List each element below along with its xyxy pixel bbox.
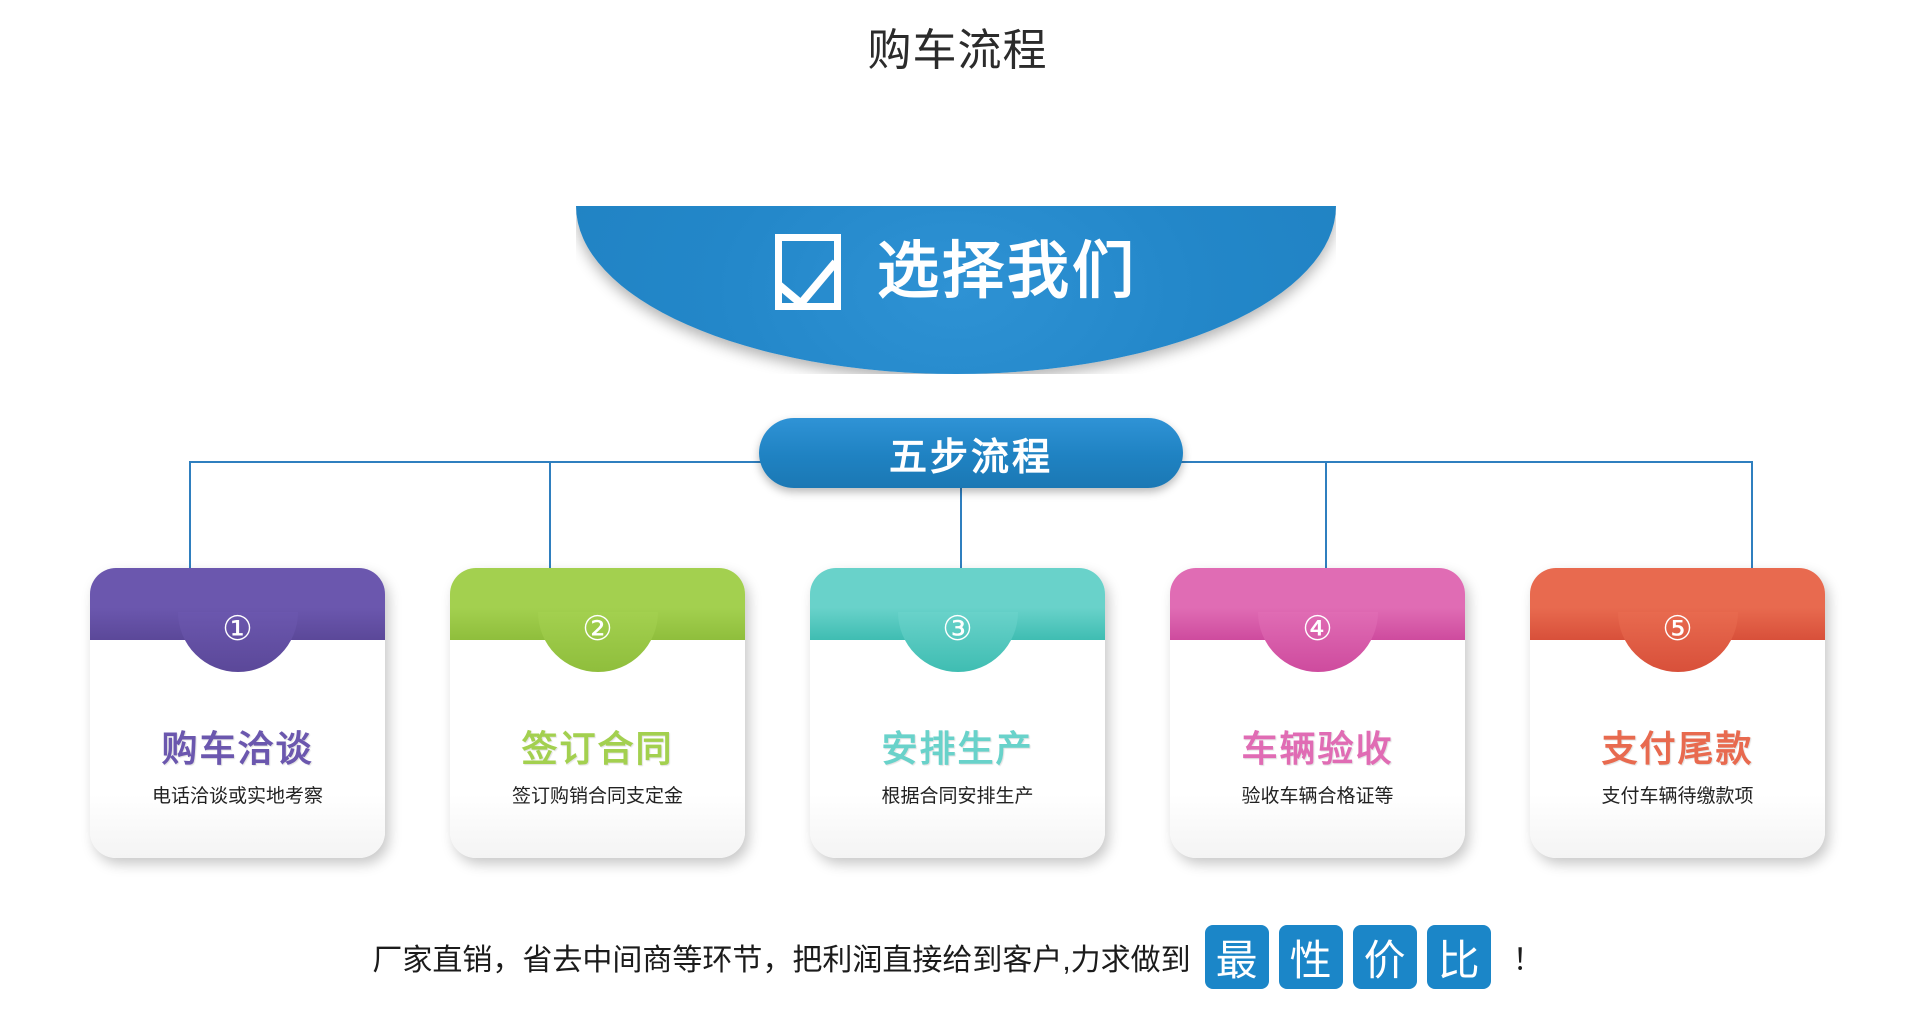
connector-trunk-left <box>189 461 769 463</box>
steps-row: ① 购车洽谈 电话洽谈或实地考察 ② 签订合同 签订购销合同支定金 ③ 安排生产… <box>0 568 1915 858</box>
step-number-badge: ② <box>538 612 658 672</box>
connector-drop-3 <box>960 487 962 571</box>
step-number: ② <box>582 612 612 648</box>
step-number-badge: ⑤ <box>1618 612 1738 672</box>
step-title: 签订合同 <box>450 720 745 772</box>
step-card[interactable]: ① 购车洽谈 电话洽谈或实地考察 <box>90 568 385 858</box>
step-number: ① <box>222 612 252 648</box>
step-card[interactable]: ④ 车辆验收 验收车辆合格证等 <box>1170 568 1465 858</box>
step-subtitle: 根据合同安排生产 <box>810 781 1105 808</box>
footer-exclamation: ！ <box>1513 935 1543 979</box>
step-number-badge: ④ <box>1258 612 1378 672</box>
step-title: 安排生产 <box>810 720 1105 772</box>
footer-highlight-char: 性 <box>1279 925 1343 989</box>
footer-slogan: 厂家直销，省去中间商等环节，把利润直接给到客户,力求做到 最性价比 ！ <box>0 925 1915 989</box>
connector-drop-1 <box>189 461 191 571</box>
step-number: ③ <box>942 612 972 648</box>
step-subtitle: 签订购销合同支定金 <box>450 781 745 808</box>
step-subtitle: 电话洽谈或实地考察 <box>90 781 385 808</box>
step-number-badge: ③ <box>898 612 1018 672</box>
footer-highlight-char: 价 <box>1353 925 1417 989</box>
step-subtitle: 验收车辆合格证等 <box>1170 781 1465 808</box>
step-card[interactable]: ③ 安排生产 根据合同安排生产 <box>810 568 1105 858</box>
step-number-badge: ① <box>178 612 298 672</box>
step-card[interactable]: ② 签订合同 签订购销合同支定金 <box>450 568 745 858</box>
banner-dome-shape <box>576 206 1336 374</box>
step-number: ⑤ <box>1662 612 1692 648</box>
choose-us-banner: 选择我们 <box>576 206 1336 374</box>
five-step-pill-label: 五步流程 <box>889 426 1053 481</box>
step-number: ④ <box>1302 612 1332 648</box>
footer-highlight-char: 比 <box>1427 925 1491 989</box>
step-title: 支付尾款 <box>1530 720 1825 772</box>
step-subtitle: 支付车辆待缴款项 <box>1530 781 1825 808</box>
footer-highlight-group: 最性价比 <box>1205 925 1491 989</box>
connector-drop-5 <box>1751 461 1753 571</box>
step-title: 购车洽谈 <box>90 720 385 772</box>
step-title: 车辆验收 <box>1170 720 1465 772</box>
slide-canvas: 购车流程 选择我们 五步流程 ① 购车洽谈 电话洽谈或实地考察 <box>0 0 1915 1029</box>
connector-drop-2 <box>549 461 551 571</box>
step-card[interactable]: ⑤ 支付尾款 支付车辆待缴款项 <box>1530 568 1825 858</box>
five-step-pill[interactable]: 五步流程 <box>759 418 1183 488</box>
connector-drop-4 <box>1325 461 1327 571</box>
footer-highlight-char: 最 <box>1205 925 1269 989</box>
connector-trunk-right <box>1173 461 1753 463</box>
page-title: 购车流程 <box>0 14 1915 78</box>
footer-slogan-text: 厂家直销，省去中间商等环节，把利润直接给到客户,力求做到 <box>372 935 1190 979</box>
